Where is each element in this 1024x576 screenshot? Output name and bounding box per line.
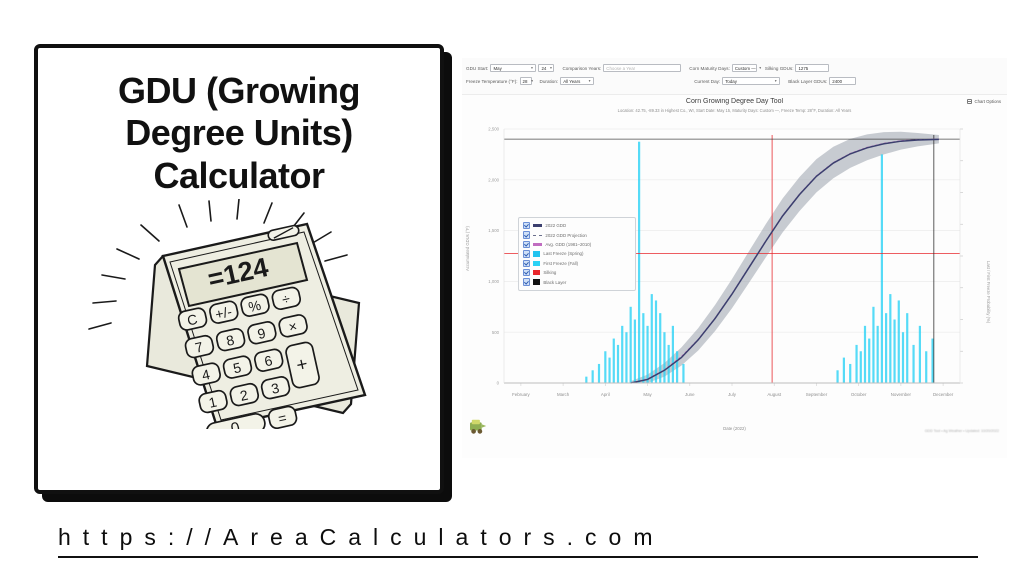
title-line-2: Degree Units) (69, 112, 409, 154)
legend-checkbox[interactable] (523, 260, 530, 267)
x-tick-label: October (851, 392, 867, 397)
legend-item[interactable]: Last Freeze (Spring) (523, 249, 631, 258)
label-corn-maturity-days: Corn Maturity Days: (689, 66, 730, 71)
legend-item[interactable]: Silking (523, 268, 631, 277)
freeze-probability-bar (885, 313, 887, 383)
freeze-probability-bar (672, 326, 674, 383)
legend-label: Avg. GDD (1981–2010) (545, 242, 591, 247)
freeze-probability-bar (881, 154, 883, 383)
freeze-probability-bar (836, 370, 838, 383)
legend-swatch (533, 261, 540, 266)
series-2022-gdd (631, 139, 939, 383)
x-tick-label: March (557, 392, 570, 397)
legend-item[interactable]: 2022 GDD (523, 221, 631, 230)
freeze-probability-bar (902, 332, 904, 383)
freeze-probability-bar (893, 320, 895, 384)
page-title: GDU (Growing Degree Units) Calculator (69, 70, 409, 197)
freeze-probability-bar (877, 326, 879, 383)
freeze-probability-bar (634, 320, 636, 384)
gdd-tool-screenshot: GDU Start: May 24 Comparison Years: Choo… (462, 58, 1007, 458)
chart-title: Corn Growing Degree Day Tool (462, 98, 1007, 105)
freeze-probability-bar (613, 339, 615, 383)
freeze-probability-bar (642, 313, 644, 383)
legend-checkbox[interactable] (523, 222, 530, 229)
freeze-probability-bar (638, 142, 640, 383)
chart-toolbar: GDU Start: May 24 Comparison Years: Choo… (462, 58, 1007, 95)
x-tick-label: September (806, 392, 828, 397)
freeze-probability-bar (912, 345, 914, 383)
x-tick-label: December (933, 392, 954, 397)
field-black-layer-gdus[interactable]: Black Layer GDUs: 2400 (788, 77, 856, 85)
select-current-day[interactable]: Today (722, 77, 780, 85)
freeze-probability-bar (855, 345, 857, 383)
select-freeze-temperature[interactable]: 28 (520, 77, 532, 85)
legend-label: First Freeze (Fall) (543, 261, 578, 266)
field-comparison-years[interactable]: Comparison Years: Choose a Year (562, 64, 681, 72)
legend-item[interactable]: Avg. GDD (1981–2010) (523, 240, 631, 249)
label-current-day: Current Day: (694, 79, 720, 84)
y-tick-label: 2,500 (488, 127, 499, 132)
x-tick-label: June (685, 392, 695, 397)
select-duration[interactable]: All Years (560, 77, 594, 85)
select-gdu-start-day[interactable]: 24 (538, 64, 554, 72)
y-tick-label: 500 (492, 330, 500, 335)
freeze-probability-bar (646, 326, 648, 383)
brand-logo-icon (468, 417, 490, 435)
freeze-probability-bar (682, 364, 684, 383)
y-tick-label: 1,000 (488, 279, 499, 284)
input-silking-gdus[interactable]: 1275 (795, 64, 829, 72)
input-black-layer-gdus[interactable]: 2400 (829, 77, 856, 85)
legend-item[interactable]: 2022 GDD Projection (523, 230, 631, 239)
freeze-probability-bar (860, 351, 862, 383)
x-tick-label: May (643, 392, 652, 397)
chart-options-button[interactable]: Chart Options (967, 99, 1001, 104)
input-comparison-years[interactable]: Choose a Year (603, 64, 681, 72)
freeze-probability-bar (608, 358, 610, 383)
freeze-probability-bar (625, 332, 627, 383)
freeze-probability-bar (651, 294, 653, 383)
calculator-illustration: =124 (59, 199, 419, 429)
legend-swatch (533, 270, 540, 275)
left-card: GDU (Growing Degree Units) Calculator (34, 44, 444, 494)
freeze-probability-bar (868, 339, 870, 383)
legend-swatch (533, 243, 542, 246)
y-tick-label: 0 (497, 381, 500, 386)
freeze-probability-bar (931, 339, 933, 383)
freeze-probability-bar (592, 370, 594, 383)
freeze-probability-bar (604, 351, 606, 383)
legend-checkbox[interactable] (523, 231, 530, 238)
chart-footer-note: GDD Tool • Ag Weather • Updated: 10/20/2… (925, 429, 999, 433)
poster-root: GDU (Growing Degree Units) Calculator (0, 0, 1024, 576)
gdd-confidence-band (631, 132, 939, 383)
freeze-probability-bar (598, 364, 600, 383)
freeze-probability-bar (668, 345, 670, 383)
label-gdu-start: GDU Start: (466, 66, 488, 71)
legend-swatch (533, 251, 540, 256)
legend-label: 2022 GDD Projection (545, 233, 587, 238)
legend-swatch (533, 224, 542, 227)
y-axis-label: Accumulated GDUs (°F) (465, 226, 470, 271)
field-current-day[interactable]: Current Day: Today (694, 77, 780, 85)
freeze-probability-bar (872, 307, 874, 383)
freeze-probability-bar (676, 351, 678, 383)
field-silking-gdus[interactable]: Silking GDUs: 1275 (765, 64, 830, 72)
field-gdu-start[interactable]: GDU Start: May 24 (466, 64, 554, 72)
x-tick-label: July (728, 392, 737, 397)
field-duration[interactable]: Duration: All Years (540, 77, 595, 85)
chart-legend[interactable]: 2022 GDD2022 GDD ProjectionAvg. GDD (198… (518, 217, 636, 291)
legend-swatch (533, 279, 540, 284)
chart-subtitle: Location: 42.75, -89.33 in Highest Co., … (462, 108, 1007, 113)
label-duration: Duration: (540, 79, 559, 84)
freeze-probability-bar (843, 358, 845, 383)
toolbar-row-1: GDU Start: May 24 Comparison Years: Choo… (466, 64, 1003, 72)
field-freeze-temperature[interactable]: Freeze Temperature (°F): 28 (466, 77, 532, 85)
label-comparison-years: Comparison Years: (562, 66, 601, 71)
freeze-probability-bar (655, 300, 657, 383)
grid-icon (967, 99, 972, 104)
freeze-probability-bar (630, 307, 632, 383)
legend-item[interactable]: First Freeze (Fall) (523, 259, 631, 268)
legend-label: 2022 GDD (545, 223, 566, 228)
legend-label: Black Layer (543, 280, 566, 285)
x-tick-label: August (767, 392, 781, 397)
legend-label: Silking (543, 270, 556, 275)
calculator-drawing: =124 (59, 199, 419, 429)
label-freeze-temperature: Freeze Temperature (°F): (466, 79, 518, 84)
chart-options-label: Chart Options (974, 99, 1001, 104)
x-tick-label: February (512, 392, 530, 397)
freeze-probability-bar (663, 332, 665, 383)
freeze-probability-bar (617, 345, 619, 383)
select-gdu-start-month[interactable]: May (490, 64, 536, 72)
y-tick-label: 2,000 (488, 177, 499, 182)
freeze-probability-bar (621, 326, 623, 383)
chart-header: Corn Growing Degree Day Tool Location: 4… (462, 95, 1007, 121)
x-tick-label: April (601, 392, 610, 397)
legend-checkbox[interactable] (523, 278, 530, 285)
freeze-probability-bar (849, 364, 851, 383)
series-avg-gdd-1981-2010- (631, 139, 939, 383)
label-black-layer-gdus: Black Layer GDUs: (788, 79, 827, 84)
title-line-1: GDU (Growing (69, 70, 409, 112)
select-corn-maturity-days[interactable]: Custom — (732, 64, 757, 72)
title-line-3: Calculator (69, 155, 409, 197)
freeze-probability-bar (919, 326, 921, 383)
freeze-probability-bar (889, 294, 891, 383)
y-tick-label: 1,500 (488, 228, 499, 233)
toolbar-row-2: Freeze Temperature (°F): 28 Duration: Al… (466, 77, 1003, 85)
freeze-probability-bar (906, 313, 908, 383)
legend-checkbox[interactable] (523, 250, 530, 257)
freeze-probability-bar (898, 300, 900, 383)
freeze-probability-bar (925, 351, 927, 383)
url-bar: https://AreaCalculators.com (58, 524, 978, 558)
field-corn-maturity-days[interactable]: Corn Maturity Days: Custom — (689, 64, 757, 72)
freeze-probability-bar (864, 326, 866, 383)
x-tick-label: November (891, 392, 912, 397)
legend-item[interactable]: Black Layer (523, 277, 631, 286)
legend-label: Last Freeze (Spring) (543, 251, 583, 256)
legend-swatch (533, 235, 542, 236)
chart-plot-area: 05001,0001,5002,0002,500FebruaryMarchApr… (462, 121, 1007, 439)
label-silking-gdus: Silking GDUs: (765, 66, 794, 71)
legend-checkbox[interactable] (523, 241, 530, 248)
y-axis-right-label: Last / First Freeze Probability (%) (986, 261, 991, 323)
freeze-probability-bar (585, 377, 587, 383)
legend-checkbox[interactable] (523, 269, 530, 276)
